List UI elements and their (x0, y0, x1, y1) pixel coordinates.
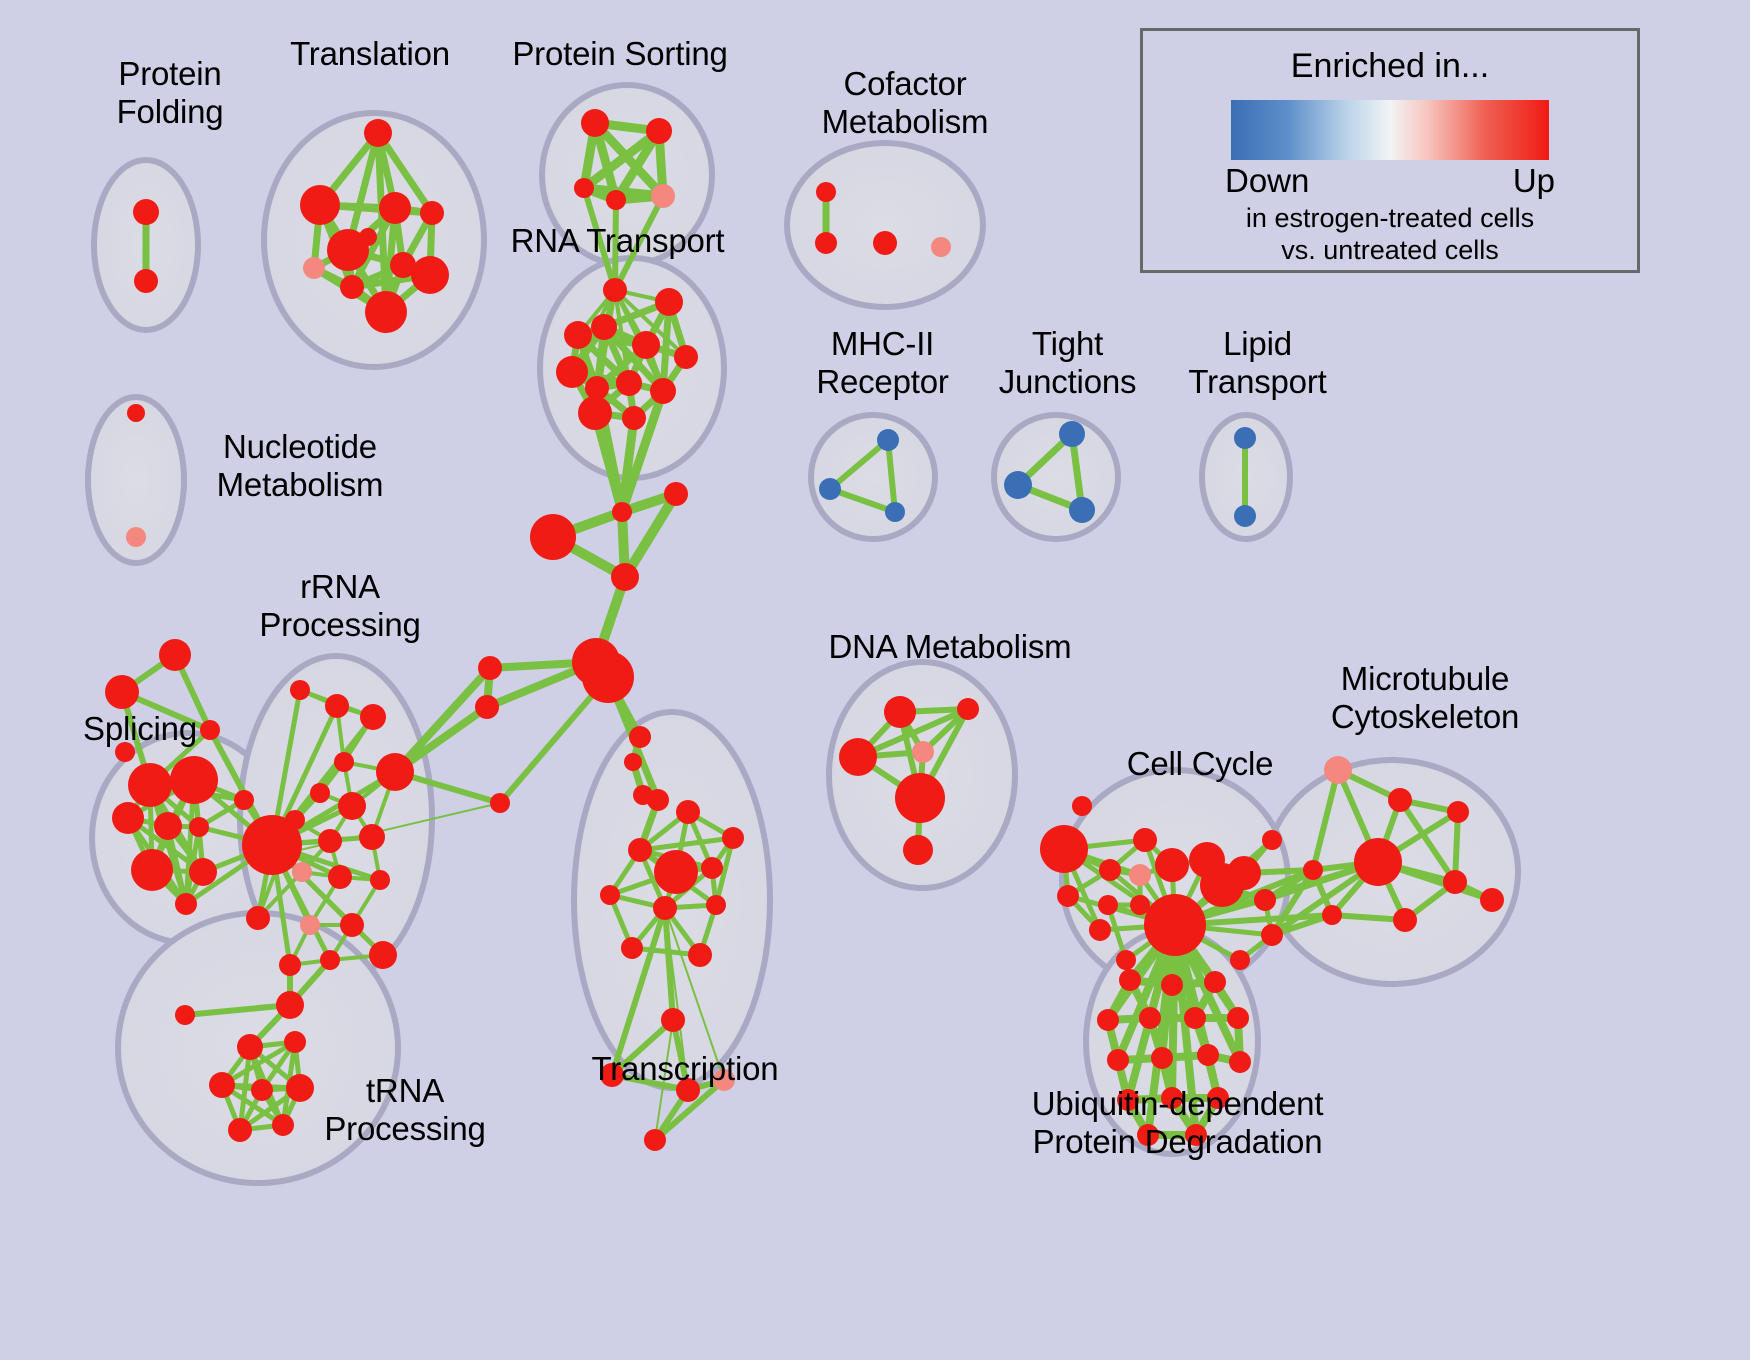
legend-box: Enriched in... Down Up in estrogen-treat… (1140, 28, 1640, 273)
network-figure: Protein Folding Translation Protein Sort… (0, 0, 1750, 1360)
hull-cofactor-metabolism (787, 143, 983, 307)
legend-caption: in estrogen-treated cells vs. untreated … (1143, 202, 1637, 266)
legend-high-label: Up (1513, 162, 1555, 200)
legend-title: Enriched in... (1143, 47, 1637, 86)
legend-endpoints: Down Up (1225, 162, 1555, 200)
legend-color-gradient-bar (1231, 100, 1549, 160)
legend-low-label: Down (1225, 162, 1309, 200)
hull-mhc-ii-receptor (811, 415, 935, 539)
